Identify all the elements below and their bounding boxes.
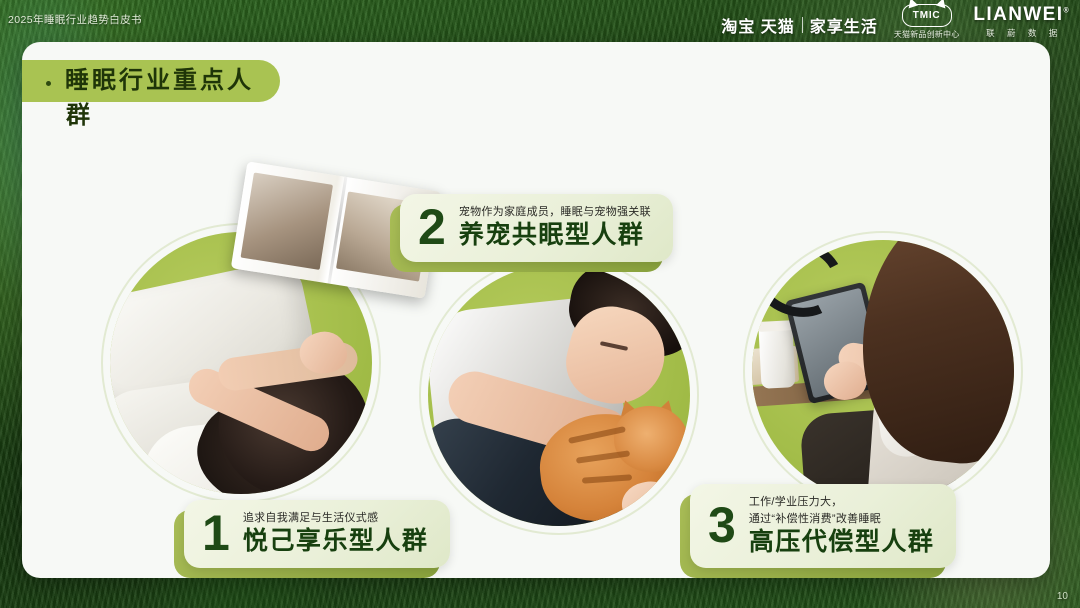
tmic-logo: TMIC 天猫新品创新中心: [888, 4, 964, 40]
taobao-tmall-label: 淘宝 天猫: [721, 13, 794, 37]
persona-3-photo: [752, 240, 1014, 502]
persona-1-number: 1: [202, 511, 230, 556]
persona-1-card[interactable]: 1 追求自我满足与生活仪式感 悦己享乐型人群: [184, 500, 450, 568]
persona-2-card[interactable]: 2 宠物作为家庭成员，睡眠与宠物强关联 养宠共眠型人群: [400, 194, 673, 262]
registered-mark-icon: ®: [1063, 8, 1070, 15]
lianwei-subtitle: 联 蔚 数 据: [981, 27, 1062, 39]
card-face: 1 追求自我满足与生活仪式感 悦己享乐型人群: [184, 500, 450, 568]
page-title: 睡眠行业重点人: [65, 67, 254, 95]
persona-3-card[interactable]: 3 工作/学业压力大， 通过“补偿性消费”改善睡眠 高压代偿型人群: [690, 484, 956, 568]
magazine-page-left: [241, 172, 333, 269]
persona-2-number: 2: [418, 205, 446, 250]
page-title-overflow: 群: [66, 102, 93, 130]
slide-root: 2025年睡眠行业趋势白皮书 淘宝 天猫 家享生活 TMIC 天猫新品创新中心 …: [0, 0, 1080, 608]
persona-2-photo: [428, 264, 690, 526]
section-title-block: 睡眠行业重点人 群: [22, 60, 282, 102]
logo-group: 淘宝 天猫 家享生活 TMIC 天猫新品创新中心 LIANWEI® 联 蔚 数 …: [721, 4, 1074, 40]
persona-3-subtitle-line1: 工作/学业压力大，: [749, 495, 935, 510]
persona-3-number: 3: [708, 503, 736, 548]
persona-1-text-group: 追求自我满足与生活仪式感 悦己享乐型人群: [243, 511, 429, 555]
persona-2-name: 养宠共眠型人群: [459, 222, 651, 250]
page-number: 10: [1057, 591, 1068, 602]
top-bar: 2025年睡眠行业趋势白皮书 淘宝 天猫 家享生活 TMIC 天猫新品创新中心 …: [0, 0, 1080, 46]
persona-3-subtitle-line2: 通过“补偿性消费”改善睡眠: [749, 512, 935, 527]
cat-head-shape: [614, 406, 688, 472]
persona-2-image: [428, 264, 690, 526]
taobao-tmall-logo: 淘宝 天猫 家享生活: [721, 7, 877, 37]
jiaxiang-label: 家享生活: [810, 13, 878, 37]
persona-1-image: [110, 232, 372, 494]
lianwei-text: LIANWEI: [973, 4, 1063, 25]
persona-2-text-group: 宠物作为家庭成员，睡眠与宠物强关联 养宠共眠型人群: [459, 205, 651, 249]
tmic-cat-face-icon: TMIC: [902, 4, 952, 27]
bullet-dot-icon: [46, 81, 51, 86]
card-face: 3 工作/学业压力大， 通过“补偿性消费”改善睡眠 高压代偿型人群: [690, 484, 956, 568]
persona-3-text-group: 工作/学业压力大， 通过“补偿性消费”改善睡眠 高压代偿型人群: [749, 495, 935, 556]
lianwei-logo: LIANWEI® 联 蔚 数 据: [973, 5, 1074, 39]
document-title: 2025年睡眠行业趋势白皮书: [8, 12, 142, 27]
tmic-subtitle: 天猫新品创新中心: [894, 29, 960, 40]
section-title-pill: 睡眠行业重点人: [22, 60, 280, 102]
coffee-cup-shape: [758, 325, 795, 389]
persona-1-name: 悦己享乐型人群: [243, 528, 429, 556]
persona-2-subtitle: 宠物作为家庭成员，睡眠与宠物强关联: [459, 205, 651, 220]
card-face: 2 宠物作为家庭成员，睡眠与宠物强关联 养宠共眠型人群: [400, 194, 673, 262]
persona-1-subtitle: 追求自我满足与生活仪式感: [243, 511, 429, 526]
tmic-wordmark: TMIC: [913, 10, 941, 21]
persona-3-name: 高压代偿型人群: [749, 529, 935, 557]
persona-3-image: [752, 240, 1014, 502]
lianwei-wordmark: LIANWEI®: [973, 5, 1070, 24]
slide-panel: 睡眠行业重点人 群: [22, 42, 1050, 578]
logo-divider: [802, 17, 803, 33]
